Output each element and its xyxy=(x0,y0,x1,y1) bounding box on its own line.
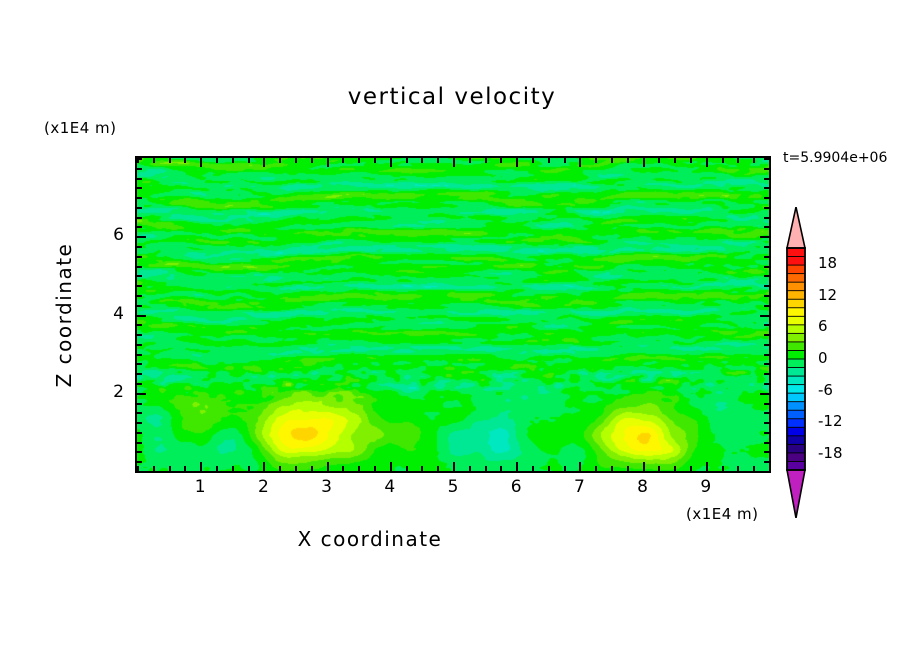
x-tick xyxy=(390,462,392,471)
x-tick xyxy=(216,466,218,471)
x-tick xyxy=(469,466,471,471)
x-tick xyxy=(232,466,234,471)
x-tick xyxy=(342,466,344,471)
x-tick xyxy=(532,466,534,471)
x-tick xyxy=(595,466,597,471)
x-tick xyxy=(453,462,455,471)
y-tick xyxy=(137,334,142,336)
x-tick-label: 2 xyxy=(253,477,273,497)
x-tick xyxy=(706,462,708,471)
colorbar-band xyxy=(787,282,805,291)
x-tick-top xyxy=(374,158,376,163)
y-tick-right xyxy=(764,422,769,424)
y-tick-right xyxy=(764,295,769,297)
colorbar-band xyxy=(787,376,805,385)
x-tick xyxy=(548,466,550,471)
x-tick xyxy=(516,462,518,471)
x-tick xyxy=(611,466,613,471)
x-tick-top xyxy=(722,158,724,163)
y-tick xyxy=(137,393,146,395)
y-tick-right xyxy=(764,432,769,434)
x-tick xyxy=(295,466,297,471)
x-tick-top xyxy=(579,158,581,167)
y-tick-right xyxy=(764,266,769,268)
x-tick-top xyxy=(532,158,534,163)
y-tick-right xyxy=(764,207,769,209)
x-tick-top xyxy=(516,158,518,167)
y-tick-right xyxy=(764,363,769,365)
x-tick-top xyxy=(627,158,629,163)
y-tick xyxy=(137,383,142,385)
x-tick xyxy=(579,462,581,471)
y-tick xyxy=(137,461,142,463)
colorbar-band xyxy=(787,393,805,402)
x-tick xyxy=(137,466,139,471)
y-tick xyxy=(137,236,146,238)
y-tick-right xyxy=(764,285,769,287)
contour-field xyxy=(137,158,769,471)
y-tick-right xyxy=(764,197,769,199)
x-tick xyxy=(200,462,202,471)
x-tick xyxy=(279,466,281,471)
y-tick-right xyxy=(764,344,769,346)
y-tick-right xyxy=(764,187,769,189)
x-tick-top xyxy=(248,158,250,163)
y-tick xyxy=(137,412,142,414)
x-tick-top xyxy=(200,158,202,167)
x-tick xyxy=(437,466,439,471)
y-tick xyxy=(137,266,142,268)
x-tick-top xyxy=(548,158,550,163)
x-tick-top xyxy=(753,158,755,163)
y-tick xyxy=(137,217,142,219)
x-tick-top xyxy=(232,158,234,163)
x-tick-top xyxy=(327,158,329,167)
x-tick xyxy=(406,466,408,471)
y-tick xyxy=(137,373,142,375)
y-tick-right xyxy=(764,158,769,160)
colorbar xyxy=(784,207,808,518)
x-tick-top xyxy=(737,158,739,163)
colorbar-tick-label: -18 xyxy=(818,444,843,462)
x-tick-label: 7 xyxy=(569,477,589,497)
x-tick xyxy=(674,466,676,471)
y-tick-right xyxy=(764,217,769,219)
time-annotation: t=5.9904e+06 xyxy=(783,150,887,166)
x-tick-top xyxy=(342,158,344,163)
y-tick-right xyxy=(764,324,769,326)
x-tick-top xyxy=(453,158,455,167)
y-tick-label: 2 xyxy=(104,382,124,402)
y-tick-right xyxy=(764,305,769,307)
y-tick-right xyxy=(764,168,769,170)
colorbar-band xyxy=(787,427,805,436)
x-tick xyxy=(327,462,329,471)
x-tick-top xyxy=(706,158,708,167)
y-tick xyxy=(137,256,142,258)
x-tick-top xyxy=(437,158,439,163)
colorbar-band xyxy=(787,333,805,342)
y-tick xyxy=(137,295,142,297)
y-tick xyxy=(137,451,142,453)
colorbar-band xyxy=(787,325,805,334)
y-tick-right xyxy=(764,256,769,258)
y-tick xyxy=(137,178,142,180)
colorbar-tick-label: 12 xyxy=(818,286,837,304)
y-tick-right xyxy=(764,275,769,277)
y-tick xyxy=(137,403,142,405)
plot-area xyxy=(135,156,771,473)
x-tick-top xyxy=(184,158,186,163)
y-tick-right xyxy=(764,461,769,463)
y-tick-right xyxy=(764,403,769,405)
y-tick-right xyxy=(764,383,769,385)
x-tick xyxy=(421,466,423,471)
x-tick-top xyxy=(500,158,502,163)
y-tick xyxy=(137,442,142,444)
x-tick xyxy=(485,466,487,471)
y-tick-right xyxy=(764,334,769,336)
colorbar-band xyxy=(787,299,805,308)
y-tick xyxy=(137,187,142,189)
colorbar-band xyxy=(787,402,805,411)
y-tick xyxy=(137,285,142,287)
x-tick xyxy=(169,466,171,471)
colorbar-band xyxy=(787,453,805,462)
y-tick xyxy=(137,158,142,160)
y-tick-label: 4 xyxy=(104,304,124,324)
y-tick xyxy=(137,324,142,326)
x-tick xyxy=(311,466,313,471)
x-tick-label: 5 xyxy=(443,477,463,497)
colorbar-band xyxy=(787,257,805,266)
y-tick-right xyxy=(760,393,769,395)
x-tick-top xyxy=(643,158,645,167)
x-tick-top xyxy=(611,158,613,163)
colorbar-band xyxy=(787,274,805,283)
x-tick-top xyxy=(674,158,676,163)
x-tick-top xyxy=(421,158,423,163)
x-axis-label: X coordinate xyxy=(0,527,740,551)
x-tick xyxy=(374,466,376,471)
page-title: vertical velocity xyxy=(0,84,904,110)
y-tick-right xyxy=(764,451,769,453)
colorbar-band xyxy=(787,291,805,300)
x-tick-label: 1 xyxy=(190,477,210,497)
y-tick-right xyxy=(760,315,769,317)
y-tick xyxy=(137,275,142,277)
colorbar-band xyxy=(787,461,805,470)
x-tick-top xyxy=(153,158,155,163)
colorbar-over-arrow xyxy=(787,207,805,248)
x-tick xyxy=(184,466,186,471)
x-tick xyxy=(753,466,755,471)
x-tick xyxy=(643,462,645,471)
x-tick xyxy=(737,466,739,471)
y-tick-right xyxy=(764,373,769,375)
colorbar-band xyxy=(787,248,805,257)
colorbar-band xyxy=(787,444,805,453)
x-tick xyxy=(248,466,250,471)
y-axis-unit-label: (x1E4 m) xyxy=(44,119,117,137)
figure-canvas: vertical velocity (x1E4 m) (x1E4 m) X co… xyxy=(0,0,904,654)
colorbar-band xyxy=(787,316,805,325)
x-tick xyxy=(690,466,692,471)
y-tick-label: 6 xyxy=(104,225,124,245)
x-tick xyxy=(658,466,660,471)
y-tick-right xyxy=(764,178,769,180)
x-tick xyxy=(358,466,360,471)
x-tick xyxy=(564,466,566,471)
colorbar-tick-label: 6 xyxy=(818,317,828,335)
x-axis-unit-label: (x1E4 m) xyxy=(686,505,759,523)
y-tick xyxy=(137,226,142,228)
x-tick-top xyxy=(469,158,471,163)
colorbar-band xyxy=(787,436,805,445)
x-tick-top xyxy=(295,158,297,163)
x-tick-label: 6 xyxy=(506,477,526,497)
colorbar-band xyxy=(787,385,805,394)
y-tick-right xyxy=(764,354,769,356)
x-tick-top xyxy=(658,158,660,163)
colorbar-band xyxy=(787,368,805,377)
x-tick-top xyxy=(485,158,487,163)
x-tick xyxy=(153,466,155,471)
colorbar-tick-label: -12 xyxy=(818,412,843,430)
x-tick-top xyxy=(263,158,265,167)
x-tick-top xyxy=(390,158,392,167)
colorbar-tick-label: 0 xyxy=(818,349,828,367)
x-tick-label: 9 xyxy=(696,477,716,497)
y-tick xyxy=(137,197,142,199)
x-tick-label: 8 xyxy=(633,477,653,497)
y-tick xyxy=(137,422,142,424)
x-tick-top xyxy=(406,158,408,163)
y-tick xyxy=(137,207,142,209)
x-tick-top xyxy=(311,158,313,163)
y-tick-right xyxy=(764,246,769,248)
x-tick xyxy=(722,466,724,471)
colorbar-band xyxy=(787,410,805,419)
x-tick-top xyxy=(564,158,566,163)
y-tick xyxy=(137,344,142,346)
y-tick xyxy=(137,315,146,317)
colorbar-band xyxy=(787,359,805,368)
colorbar-band xyxy=(787,342,805,351)
colorbar-band xyxy=(787,419,805,428)
x-tick-top xyxy=(595,158,597,163)
x-tick-top xyxy=(690,158,692,163)
colorbar-tick-label: 18 xyxy=(818,254,837,272)
x-tick xyxy=(500,466,502,471)
y-tick xyxy=(137,168,142,170)
y-tick xyxy=(137,354,142,356)
y-tick xyxy=(137,432,142,434)
colorbar-tick-label: -6 xyxy=(818,381,833,399)
y-tick xyxy=(137,363,142,365)
y-tick-right xyxy=(764,226,769,228)
x-tick-top xyxy=(279,158,281,163)
x-tick xyxy=(263,462,265,471)
colorbar-band xyxy=(787,350,805,359)
colorbar-band xyxy=(787,265,805,274)
x-tick xyxy=(627,466,629,471)
colorbar-swatches xyxy=(784,207,808,518)
x-tick-top xyxy=(169,158,171,163)
colorbar-under-arrow xyxy=(787,470,805,518)
y-tick xyxy=(137,305,142,307)
y-tick xyxy=(137,246,142,248)
colorbar-band xyxy=(787,308,805,317)
y-tick-right xyxy=(760,236,769,238)
y-tick-right xyxy=(764,412,769,414)
x-tick-top xyxy=(216,158,218,163)
y-tick-right xyxy=(764,442,769,444)
y-axis-label: Z coordinate xyxy=(52,215,76,415)
x-tick-label: 4 xyxy=(380,477,400,497)
x-tick-label: 3 xyxy=(317,477,337,497)
x-tick-top xyxy=(358,158,360,163)
